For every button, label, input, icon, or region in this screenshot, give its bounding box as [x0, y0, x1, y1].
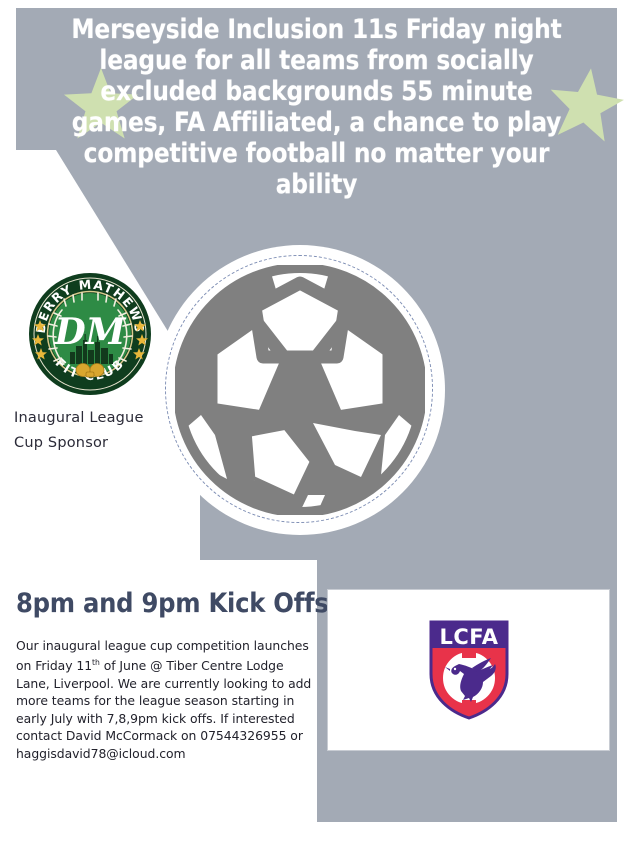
white-bottom-strip	[0, 822, 631, 866]
kick-off-heading: 8pm and 9pm Kick Offs	[16, 588, 328, 619]
poster-canvas: Merseyside Inclusion 11s Friday night le…	[0, 0, 631, 866]
lcfa-crest: LCFA	[425, 618, 513, 722]
derry-mathews-fit-club-logo: DERRY MATHEWS FIT CLUB	[28, 272, 152, 396]
lcfa-wordmark: LCFA	[439, 625, 498, 649]
headline-banner: Merseyside Inclusion 11s Friday night le…	[16, 14, 617, 150]
body-text-ordinal-suffix: th	[92, 658, 100, 667]
badge-monogram: DM	[53, 311, 126, 353]
body-paragraph: Our inaugural league cup competition lau…	[16, 637, 316, 762]
lcfa-logo-card: LCFA	[327, 589, 610, 751]
headline-text: Merseyside Inclusion 11s Friday night le…	[52, 14, 581, 200]
soccer-ball-graphic	[155, 245, 445, 535]
